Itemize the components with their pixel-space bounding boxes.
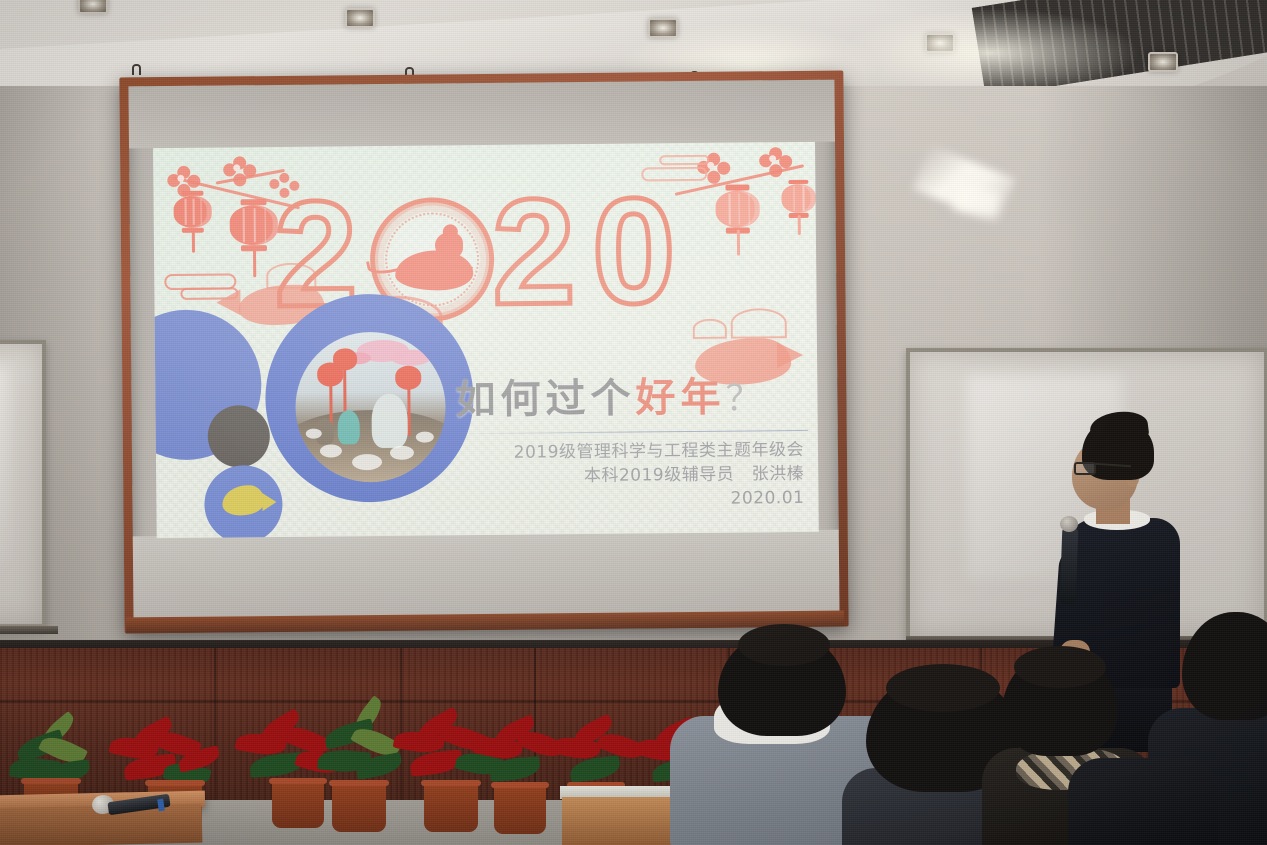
photo-person: [338, 410, 360, 444]
slide-subtitle-line-2: 本科2019级辅导员 张洪榛: [514, 462, 804, 489]
rat-ear-icon: [443, 224, 458, 239]
projection-screen-frame: 2 2 0: [119, 71, 848, 634]
projection-screen-surface: 2 2 0: [128, 80, 839, 623]
slide-subtitle-block: 2019级管理科学与工程类主题年级会 本科2019级辅导员 张洪榛 2020.0…: [514, 438, 805, 513]
red-lantern-icon: [230, 205, 278, 245]
handheld-microphone-body: [1060, 528, 1079, 605]
flower-pot: [332, 780, 386, 832]
lecture-hall-photo: 2 2 0: [0, 0, 1267, 845]
slide-title-accent-part: 好年: [635, 374, 725, 422]
ceiling-spotlight-icon: [345, 8, 375, 28]
eyeglasses-icon: [1074, 462, 1096, 475]
photo-circle: [264, 293, 474, 503]
screen-mount-hook-icon: [132, 64, 141, 75]
year-digit-0: 0: [591, 187, 676, 314]
screen-blank-top: [128, 80, 835, 149]
slide-subtitle-line-3: 2020.01: [514, 486, 804, 513]
koi-tail-icon: [216, 289, 240, 315]
flower-pot: [272, 778, 324, 828]
auspicious-cloud-icon: [659, 155, 709, 165]
ceiling-spotlight-icon: [648, 18, 678, 38]
koi-tail-icon: [777, 342, 803, 368]
flower-pot: [424, 780, 478, 832]
audience-head: [1182, 612, 1267, 720]
presentation-slide: 2 2 0: [153, 142, 819, 538]
audience-right-front: [1068, 740, 1216, 845]
red-lantern-icon: [715, 190, 759, 227]
slide-subtitle-line-1: 2019级管理科学与工程类主题年级会: [514, 438, 804, 465]
photo-lantern-icon: [333, 348, 357, 370]
flower-pot: [494, 782, 546, 834]
decorative-circle-small: [204, 465, 283, 538]
whiteboard-left-tray: [0, 626, 58, 634]
photo-person: [371, 394, 408, 448]
screen-blank-bottom: [133, 530, 840, 623]
golden-fish-icon: [222, 485, 264, 515]
year-digit-2b: 2: [491, 188, 576, 315]
handheld-microphone-icon: [1060, 516, 1078, 532]
lotus-icon: [731, 308, 787, 339]
photo-ground: [295, 409, 446, 483]
ceiling-spotlight-icon: [925, 33, 955, 53]
festival-photo: [295, 331, 446, 482]
whiteboard-sheen: [0, 366, 8, 568]
ceiling-spotlight-icon: [78, 0, 108, 14]
slide-title-gray-part: 如何过个: [455, 375, 635, 424]
red-lantern-icon: [173, 196, 211, 228]
audience-coat: [1068, 758, 1218, 845]
slide-title-question-mark: ？: [725, 378, 766, 419]
decorative-circle-dark: [208, 405, 271, 468]
ceiling-spotlight-icon: [1148, 52, 1178, 72]
red-lantern-icon: [781, 184, 815, 213]
whiteboard-left: [0, 340, 46, 628]
photo-lantern-icon: [395, 366, 421, 390]
slide-main-title: 如何过个好年？: [455, 364, 767, 425]
